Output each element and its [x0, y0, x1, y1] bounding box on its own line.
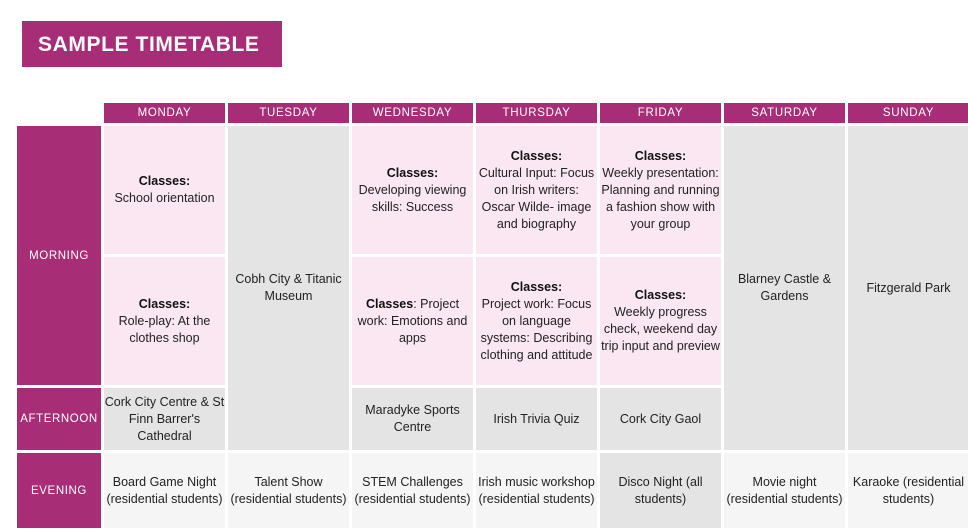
- cell-wednesday-morning-1-label: Classes:: [387, 166, 438, 180]
- cell-monday-morning-1-label: Classes:: [139, 174, 190, 188]
- cell-wednesday-morning-2-label: Classes: [366, 297, 413, 311]
- page-title-banner: SAMPLE TIMETABLE: [22, 21, 282, 67]
- cell-wednesday-afternoon-text: Maradyke Sports Centre: [352, 402, 473, 436]
- cell-sunday-evening: Karaoke (residential students): [848, 453, 968, 528]
- cell-friday-morning-1: Classes: Weekly presentation: Planning a…: [600, 126, 721, 254]
- cell-wednesday-morning-1: Classes: Developing viewing skills: Succ…: [352, 126, 473, 254]
- header-corner-blank: [17, 103, 101, 123]
- cell-sunday-evening-text: Karaoke (residential students): [848, 474, 968, 508]
- cell-thursday-morning-1-text: Cultural Input: Focus on Irish writers: …: [476, 165, 597, 233]
- cell-monday-morning-2-label: Classes:: [139, 297, 190, 311]
- cell-monday-morning-1-text: School orientation: [104, 190, 225, 207]
- cell-thursday-afternoon-text: Irish Trivia Quiz: [476, 411, 597, 428]
- cell-wednesday-afternoon: Maradyke Sports Centre: [352, 388, 473, 450]
- cell-monday-afternoon: Cork City Centre & St Finn Barrer's Cath…: [104, 388, 225, 450]
- row-label-afternoon: AFTERNOON: [17, 388, 101, 450]
- cell-monday-morning-2-text: Role-play: At the clothes shop: [104, 313, 225, 347]
- timetable-page: SAMPLE TIMETABLE MONDAY TUESDAY WEDNESDA…: [0, 0, 968, 527]
- cell-wednesday-morning-1-text: Developing viewing skills: Success: [352, 182, 473, 216]
- cell-wednesday-evening: STEM Challenges (residential students): [352, 453, 473, 528]
- cell-friday-morning-2-text: Weekly progress check, weekend day trip …: [600, 304, 721, 355]
- cell-thursday-morning-2: Classes: Project work: Focus on language…: [476, 257, 597, 385]
- cell-tuesday-evening: Talent Show (residential students): [228, 453, 349, 528]
- cell-wednesday-evening-text: STEM Challenges (residential students): [352, 474, 473, 508]
- cell-thursday-morning-2-label: Classes:: [511, 280, 562, 294]
- column-header-monday: MONDAY: [104, 103, 225, 123]
- timetable-row-evening: EVENING Board Game Night (residential st…: [17, 453, 968, 528]
- cell-monday-morning-1: Classes: School orientation: [104, 126, 225, 254]
- cell-thursday-evening-text: Irish music workshop (residential studen…: [476, 474, 597, 508]
- cell-friday-morning-2-label: Classes:: [635, 288, 686, 302]
- cell-friday-evening: Disco Night (all students): [600, 453, 721, 528]
- cell-friday-afternoon: Cork City Gaol: [600, 388, 721, 450]
- column-header-sunday: SUNDAY: [848, 103, 968, 123]
- column-header-wednesday: WEDNESDAY: [352, 103, 473, 123]
- timetable: MONDAY TUESDAY WEDNESDAY THURSDAY FRIDAY…: [14, 100, 968, 531]
- timetable-row-morning-1: MORNING Classes: School orientation Cobh…: [17, 126, 968, 254]
- cell-friday-morning-1-text: Weekly presentation: Planning and runnin…: [600, 165, 721, 233]
- cell-tuesday-daytime: Cobh City & Titanic Museum: [228, 126, 349, 450]
- column-header-saturday: SATURDAY: [724, 103, 845, 123]
- column-header-friday: FRIDAY: [600, 103, 721, 123]
- column-header-tuesday: TUESDAY: [228, 103, 349, 123]
- cell-sunday-daytime-text: Fitzgerald Park: [848, 280, 968, 297]
- row-label-morning: MORNING: [17, 126, 101, 385]
- timetable-header-row: MONDAY TUESDAY WEDNESDAY THURSDAY FRIDAY…: [17, 103, 968, 123]
- cell-thursday-afternoon: Irish Trivia Quiz: [476, 388, 597, 450]
- cell-saturday-evening: Movie night (residential students): [724, 453, 845, 528]
- cell-friday-morning-2: Classes: Weekly progress check, weekend …: [600, 257, 721, 385]
- cell-monday-morning-2: Classes: Role-play: At the clothes shop: [104, 257, 225, 385]
- cell-monday-evening-text: Board Game Night (residential students): [104, 474, 225, 508]
- cell-thursday-morning-2-text: Project work: Focus on language systems:…: [476, 296, 597, 364]
- cell-friday-afternoon-text: Cork City Gaol: [600, 411, 721, 428]
- cell-tuesday-daytime-text: Cobh City & Titanic Museum: [228, 271, 349, 305]
- page-title: SAMPLE TIMETABLE: [38, 34, 260, 55]
- column-header-thursday: THURSDAY: [476, 103, 597, 123]
- cell-saturday-daytime: Blarney Castle & Gardens: [724, 126, 845, 450]
- cell-thursday-morning-1-label: Classes:: [511, 149, 562, 163]
- cell-tuesday-evening-text: Talent Show (residential students): [228, 474, 349, 508]
- cell-wednesday-morning-2: Classes: Project work: Emotions and apps: [352, 257, 473, 385]
- cell-thursday-morning-1: Classes: Cultural Input: Focus on Irish …: [476, 126, 597, 254]
- cell-saturday-evening-text: Movie night (residential students): [724, 474, 845, 508]
- cell-monday-evening: Board Game Night (residential students): [104, 453, 225, 528]
- cell-friday-morning-1-label: Classes:: [635, 149, 686, 163]
- cell-monday-afternoon-text: Cork City Centre & St Finn Barrer's Cath…: [104, 394, 225, 445]
- cell-sunday-daytime: Fitzgerald Park: [848, 126, 968, 450]
- cell-friday-evening-text: Disco Night (all students): [600, 474, 721, 508]
- row-label-evening: EVENING: [17, 453, 101, 528]
- cell-thursday-evening: Irish music workshop (residential studen…: [476, 453, 597, 528]
- cell-saturday-daytime-text: Blarney Castle & Gardens: [724, 271, 845, 305]
